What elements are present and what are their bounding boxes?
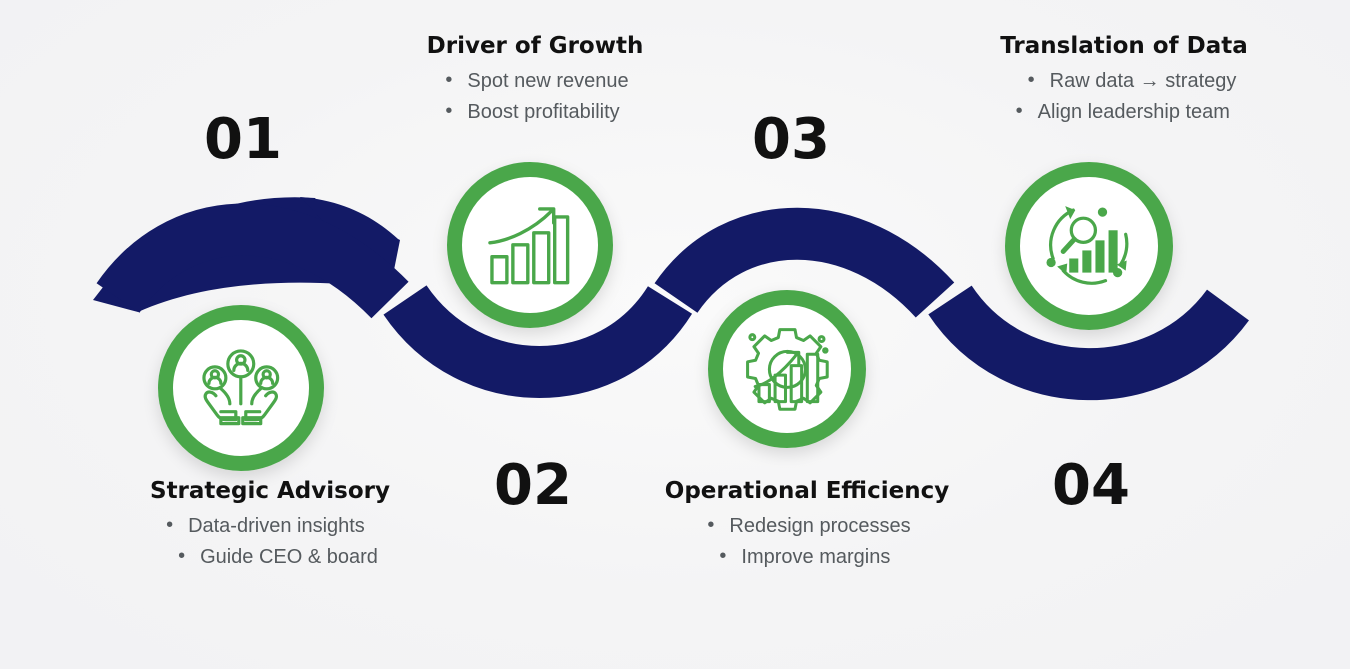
step-1-icon-circle[interactable] bbox=[158, 305, 324, 471]
wave-crest-right bbox=[676, 234, 935, 300]
step-2-icon-circle[interactable] bbox=[447, 162, 613, 328]
step-2-title: Driver of Growth bbox=[350, 33, 720, 59]
step-2-number: 02 bbox=[494, 458, 572, 514]
gear-bar-chart-arrow-icon bbox=[740, 322, 835, 417]
step-3-bullet-2: Improve margins bbox=[703, 542, 910, 572]
step-1-bullet-2: Guide CEO & board bbox=[162, 542, 378, 572]
step-1-bullets: Data-driven insights Guide CEO & board bbox=[162, 511, 378, 572]
step-3-title: Operational Efficiency bbox=[612, 478, 1002, 504]
step-1-title: Strategic Advisory bbox=[65, 478, 475, 504]
step-1-number: 01 bbox=[204, 112, 282, 168]
step-4-number: 04 bbox=[1052, 458, 1130, 514]
hands-holding-people-icon bbox=[191, 338, 291, 438]
infographic-canvas: 01 Strategic Advisory Data-driven insigh… bbox=[0, 0, 1350, 669]
growth-bar-chart-arrow-icon bbox=[480, 195, 580, 295]
step-3-number: 03 bbox=[752, 112, 830, 168]
step-3-text-block: Operational Efficiency Redesign processe… bbox=[612, 478, 1002, 572]
wave-segment-1b bbox=[300, 197, 400, 290]
step-1-bullet-1: Data-driven insights bbox=[162, 511, 378, 541]
magnifier-bar-chart-cycle-icon bbox=[1039, 196, 1140, 297]
step-2-bullet-2: Boost profitability bbox=[441, 97, 628, 127]
step-4-bullet-1: Raw data → strategy bbox=[1012, 66, 1237, 96]
step-4-icon-circle[interactable] bbox=[1005, 162, 1173, 330]
step-4-bullets: Raw data → strategy Align leadership tea… bbox=[1012, 66, 1237, 127]
step-3-bullet-1: Redesign processes bbox=[703, 511, 910, 541]
step-2-bullet-1: Spot new revenue bbox=[441, 66, 628, 96]
step-4-text-block: Translation of Data Raw data → strategy … bbox=[918, 33, 1330, 127]
step-1-text-block: Strategic Advisory Data-driven insights … bbox=[65, 478, 475, 572]
step-2-bullets: Spot new revenue Boost profitability bbox=[441, 66, 628, 127]
wave-segment-1 bbox=[93, 197, 388, 312]
step-4-bullet-2: Align leadership team bbox=[1012, 97, 1237, 127]
wave-crest-left bbox=[118, 230, 390, 300]
step-4-title: Translation of Data bbox=[918, 33, 1330, 59]
step-3-icon-circle[interactable] bbox=[708, 290, 866, 448]
step-2-text-block: Driver of Growth Spot new revenue Boost … bbox=[350, 33, 720, 127]
step-3-bullets: Redesign processes Improve margins bbox=[703, 511, 910, 572]
